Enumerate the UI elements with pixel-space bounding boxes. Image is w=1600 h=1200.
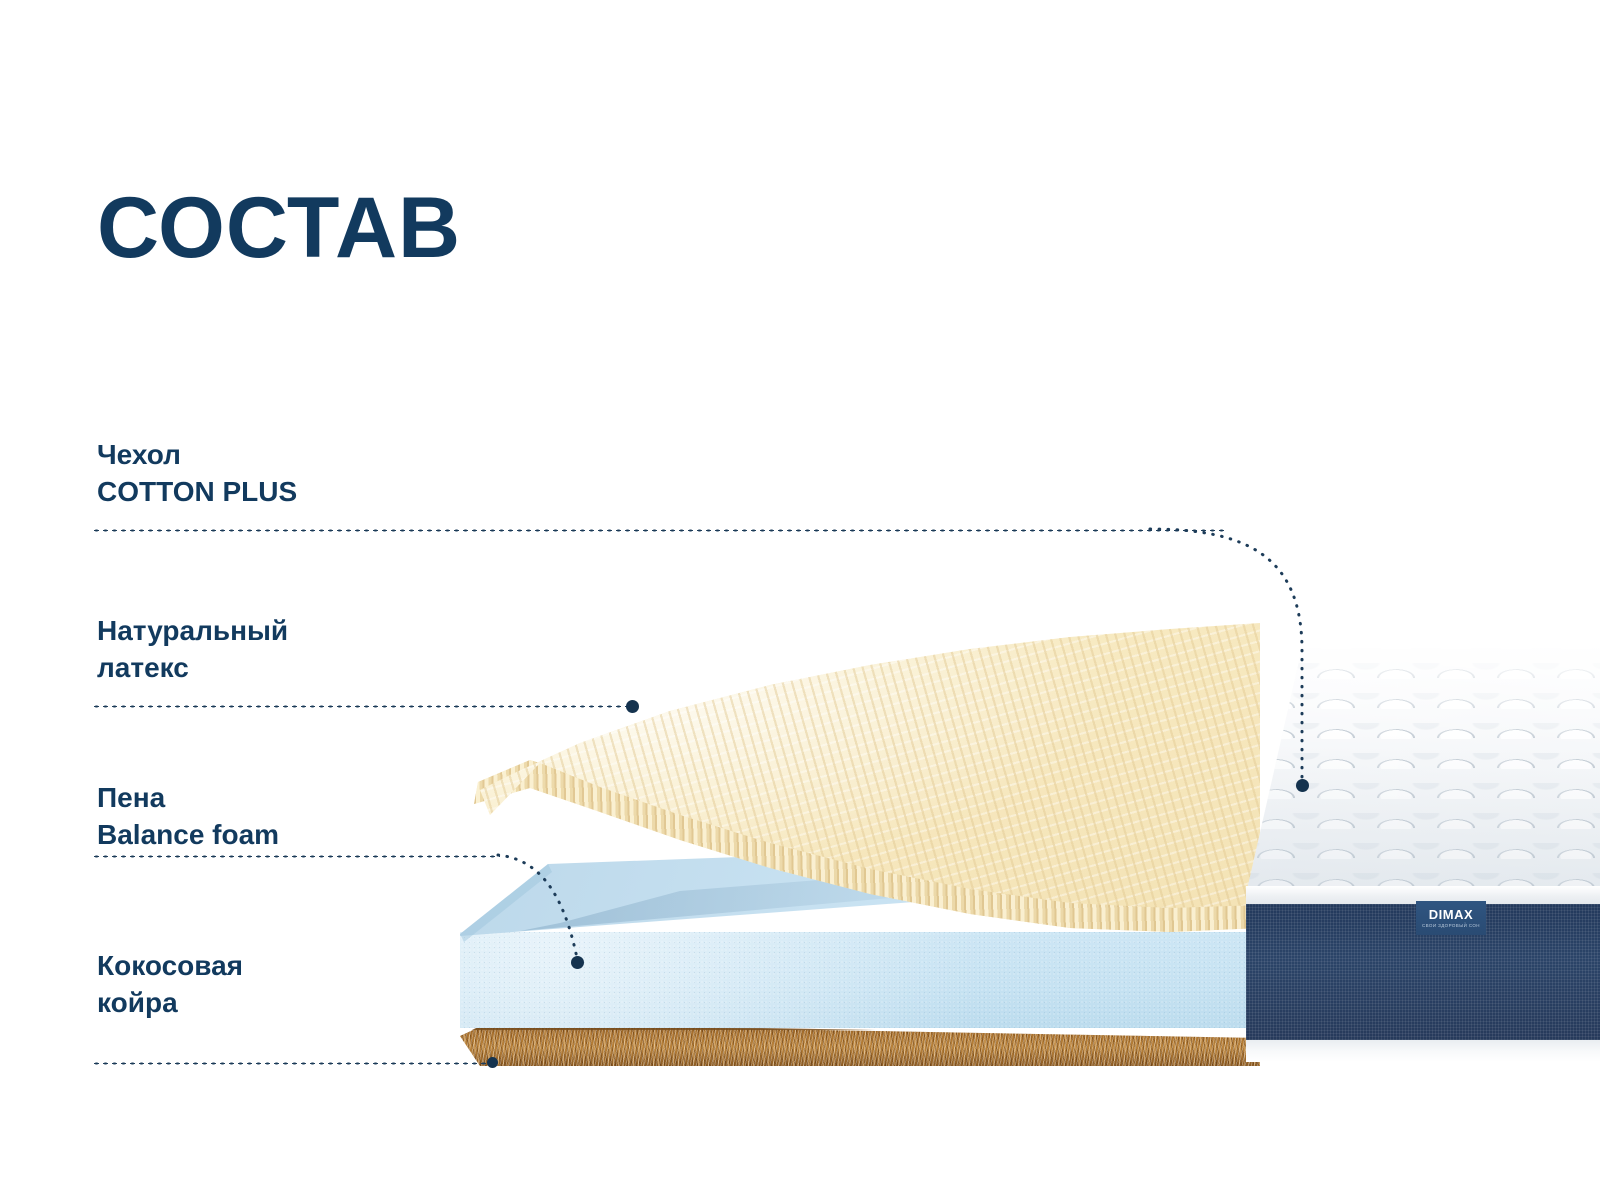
label-foam-line2: Balance foam xyxy=(97,817,279,854)
cover-lower-piping xyxy=(1246,1040,1600,1062)
label-coir-line2: койра xyxy=(97,985,243,1022)
endpoint-dot-latex xyxy=(626,700,639,713)
leader-curve-foam xyxy=(498,845,608,975)
label-latex: Натуральный латекс xyxy=(97,613,288,687)
endpoint-dot-cover xyxy=(1296,779,1309,792)
leader-curve-cover xyxy=(1150,470,1340,800)
dimax-brand-name: DIMAX xyxy=(1429,908,1473,921)
label-foam-line1: Пена xyxy=(97,780,279,817)
leader-line-cover xyxy=(92,529,1228,532)
endpoint-dot-coir xyxy=(487,1057,498,1068)
label-foam: Пена Balance foam xyxy=(97,780,279,854)
label-latex-line2: латекс xyxy=(97,650,288,687)
label-cover-line2: COTTON PLUS xyxy=(97,474,297,511)
leader-line-foam xyxy=(92,855,500,858)
dimax-brand-tag: DIMAX СВОИ ЗДОРОВЫЙ СОН xyxy=(1416,901,1486,935)
label-coir-line1: Кокосовая xyxy=(97,948,243,985)
leader-line-coir xyxy=(92,1062,490,1065)
label-cover: Чехол COTTON PLUS xyxy=(97,437,297,511)
dimax-brand-tagline: СВОИ ЗДОРОВЫЙ СОН xyxy=(1422,923,1480,928)
label-cover-line1: Чехол xyxy=(97,437,297,474)
label-coir: Кокосовая койра xyxy=(97,948,243,1022)
endpoint-dot-foam xyxy=(571,956,584,969)
mattress-composition-infographic: СОСТАВ DIMAX СВОИ ЗДОРОВЫЙ СОН xyxy=(0,0,1600,1200)
label-latex-line1: Натуральный xyxy=(97,613,288,650)
leader-line-latex xyxy=(92,705,630,708)
